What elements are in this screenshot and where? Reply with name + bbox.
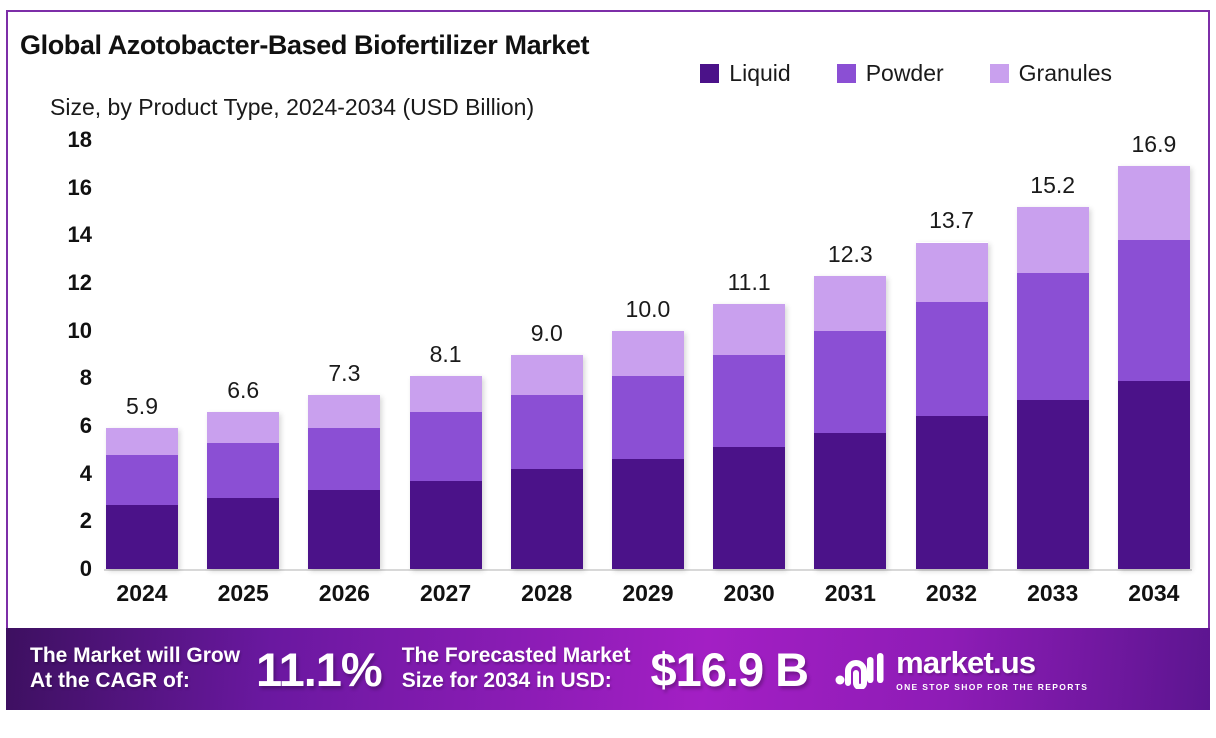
chart-legend: Liquid Powder Granules [700,60,1112,87]
x-axis-tick: 2029 [610,580,686,607]
bar-stack[interactable] [713,304,785,569]
x-axis-tick: 2031 [812,580,888,607]
y-axis-tick: 12 [68,270,92,296]
forecast-value: $16.9 B [650,642,808,697]
bar-total-label: 6.6 [227,377,259,404]
bar-segment-granules[interactable] [713,304,785,354]
bar-group[interactable]: 9.0 [509,140,585,569]
y-axis-tick: 6 [80,413,92,439]
cagr-value: 11.1% [256,642,382,697]
bar-stack[interactable] [916,242,988,569]
bar-segment-powder[interactable] [612,376,684,459]
bar-group[interactable]: 15.2 [1015,140,1091,569]
x-axis-tick: 2030 [711,580,787,607]
bar-segment-liquid[interactable] [713,447,785,569]
bar-total-label: 15.2 [1030,172,1075,199]
bar-segment-liquid[interactable] [207,498,279,570]
bar-segment-granules[interactable] [207,412,279,443]
x-axis-tick: 2026 [306,580,382,607]
bar-segment-liquid[interactable] [410,481,482,569]
bar-total-label: 10.0 [626,296,671,323]
x-axis-tick: 2024 [104,580,180,607]
bar-segment-powder[interactable] [1017,273,1089,399]
infographic-root: Global Azotobacter-Based Biofertilizer M… [0,0,1216,738]
bar-segment-granules[interactable] [511,355,583,396]
bar-total-label: 16.9 [1131,131,1176,158]
bar-stack[interactable] [207,412,279,569]
bar-total-label: 7.3 [328,360,360,387]
bar-segment-granules[interactable] [814,276,886,331]
bar-chart-logo-icon [834,649,886,689]
market-us-logo[interactable]: market.us ONE STOP SHOP FOR THE REPORTS [834,647,1088,692]
legend-item-powder[interactable]: Powder [837,60,944,87]
bar-stack[interactable] [410,376,482,569]
square-swatch-icon [990,64,1009,83]
bar-group[interactable]: 12.3 [812,140,888,569]
legend-label-liquid: Liquid [729,60,790,87]
bar-total-label: 8.1 [430,341,462,368]
forecast-label-line2: Size for 2034 in USD: [402,669,631,694]
page-title: Global Azotobacter-Based Biofertilizer M… [20,30,589,61]
cagr-label: The Market will Grow At the CAGR of: [30,644,240,694]
x-axis-tick: 2033 [1015,580,1091,607]
bar-segment-powder[interactable] [511,395,583,469]
bar-segment-liquid[interactable] [308,490,380,569]
y-axis-tick: 4 [80,461,92,487]
y-axis-tick: 14 [68,222,92,248]
bar-total-label: 12.3 [828,241,873,268]
bar-segment-powder[interactable] [916,302,988,416]
bar-group[interactable]: 16.9 [1116,140,1192,569]
y-axis: 024681012141618 [46,140,98,570]
bar-series-container: 5.96.67.38.19.010.011.112.313.715.216.9 [104,140,1192,569]
bar-segment-liquid[interactable] [916,416,988,569]
bar-stack[interactable] [612,331,684,569]
x-axis: 2024202520262027202820292030203120322033… [104,580,1192,607]
bar-total-label: 11.1 [728,269,771,296]
bar-segment-granules[interactable] [106,428,178,454]
y-axis-tick: 2 [80,508,92,534]
bar-segment-powder[interactable] [713,355,785,448]
bar-total-label: 9.0 [531,320,563,347]
bar-segment-granules[interactable] [410,376,482,412]
legend-label-granules: Granules [1019,60,1112,87]
logo-wordmark: market.us [896,647,1088,678]
bar-segment-granules[interactable] [612,331,684,376]
y-axis-tick: 10 [68,318,92,344]
chart-card: Global Azotobacter-Based Biofertilizer M… [6,10,1210,628]
y-axis-tick: 16 [68,175,92,201]
bar-segment-powder[interactable] [308,428,380,490]
x-axis-line [104,569,1192,571]
bar-total-label: 5.9 [126,393,158,420]
bar-segment-liquid[interactable] [511,469,583,569]
bar-segment-granules[interactable] [1017,207,1089,274]
bar-group[interactable]: 6.6 [205,140,281,569]
logo-text: market.us ONE STOP SHOP FOR THE REPORTS [896,647,1088,692]
bar-segment-powder[interactable] [106,455,178,505]
bar-segment-powder[interactable] [410,412,482,481]
bar-stack[interactable] [1118,166,1190,569]
bar-total-label: 13.7 [929,207,974,234]
bar-group[interactable]: 13.7 [914,140,990,569]
chart-subtitle: Size, by Product Type, 2024-2034 (USD Bi… [50,94,534,121]
bar-segment-powder[interactable] [207,443,279,498]
bar-segment-granules[interactable] [916,243,988,303]
x-axis-tick: 2034 [1116,580,1192,607]
bar-segment-liquid[interactable] [1017,400,1089,569]
bar-group[interactable]: 8.1 [408,140,484,569]
bar-stack[interactable] [308,395,380,569]
legend-item-granules[interactable]: Granules [990,60,1112,87]
bar-segment-powder[interactable] [1118,240,1190,381]
cagr-label-line1: The Market will Grow [30,644,240,669]
y-axis-tick: 18 [68,127,92,153]
bar-group[interactable]: 5.9 [104,140,180,569]
forecast-label: The Forecasted Market Size for 2034 in U… [402,644,631,694]
bar-stack[interactable] [1017,207,1089,569]
x-axis-tick: 2028 [509,580,585,607]
x-axis-tick: 2027 [408,580,484,607]
y-axis-tick: 8 [80,365,92,391]
bar-group[interactable]: 11.1 [711,140,787,569]
square-swatch-icon [837,64,856,83]
bar-stack[interactable] [814,276,886,569]
legend-item-liquid[interactable]: Liquid [700,60,790,87]
x-axis-tick: 2032 [914,580,990,607]
y-axis-tick: 0 [80,556,92,582]
bar-segment-powder[interactable] [814,331,886,433]
summary-banner: The Market will Grow At the CAGR of: 11.… [6,628,1210,710]
bar-segment-liquid[interactable] [814,433,886,569]
cagr-label-line2: At the CAGR of: [30,669,240,694]
bar-segment-liquid[interactable] [612,459,684,569]
bar-stack[interactable] [106,428,178,569]
square-swatch-icon [700,64,719,83]
bar-group[interactable]: 7.3 [306,140,382,569]
bar-group[interactable]: 10.0 [610,140,686,569]
legend-label-powder: Powder [866,60,944,87]
bar-segment-granules[interactable] [308,395,380,428]
logo-tagline: ONE STOP SHOP FOR THE REPORTS [896,682,1088,692]
bar-segment-liquid[interactable] [106,505,178,569]
bar-stack[interactable] [511,355,583,570]
bar-segment-granules[interactable] [1118,166,1190,240]
plot-area: 024681012141618 5.96.67.38.19.010.011.11… [46,140,1196,580]
forecast-label-line1: The Forecasted Market [402,644,631,669]
bar-segment-liquid[interactable] [1118,381,1190,569]
x-axis-tick: 2025 [205,580,281,607]
